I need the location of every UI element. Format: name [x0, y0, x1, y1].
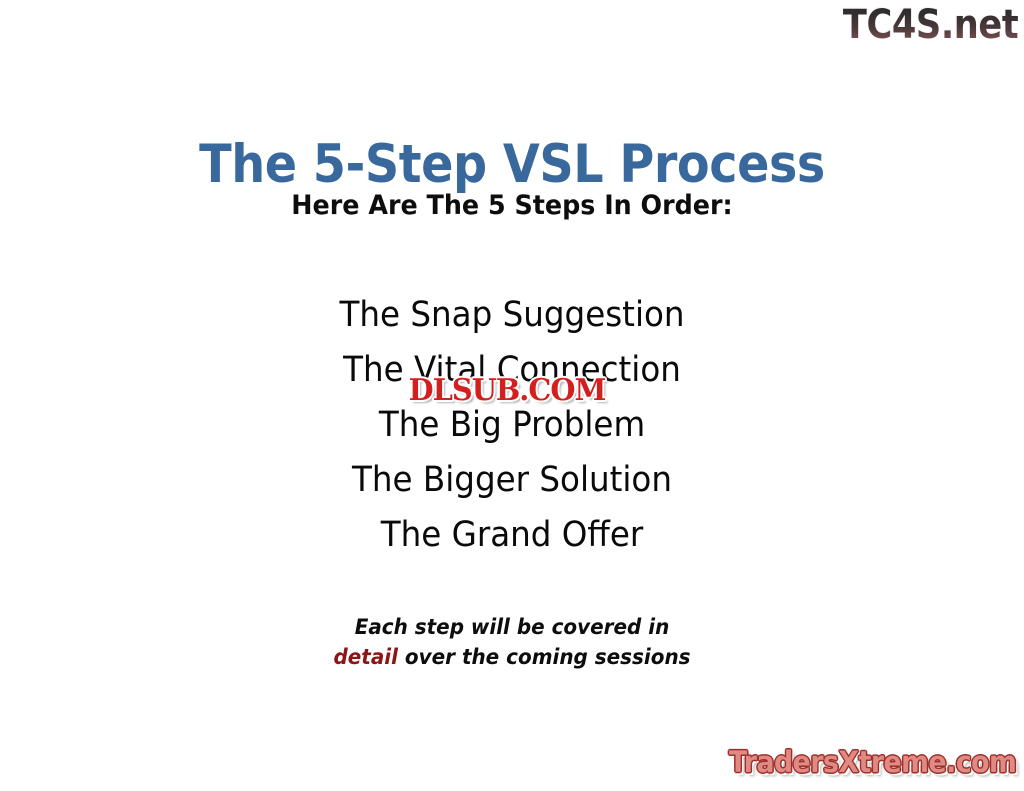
tc4s-brand-logo: TC4S.net: [843, 2, 1018, 48]
closing-note-line-2-text: over the coming sessions: [405, 645, 691, 669]
steps-list: The Snap Suggestion The Vital Connection…: [0, 288, 1024, 563]
page-title: The 5-Step VSL Process: [51, 136, 973, 194]
list-item: The Snap Suggestion: [36, 288, 988, 343]
closing-note-line-1: Each step will be covered in: [26, 612, 999, 642]
tradersxtreme-site-logo: TradersXtreme.com: [729, 745, 1016, 779]
slide-subtitle: Here Are The 5 Steps In Order:: [31, 190, 994, 222]
list-item: The Bigger Solution: [36, 453, 988, 508]
closing-note-accent-word: detail: [333, 645, 397, 669]
list-item: The Grand Offer: [36, 508, 988, 563]
closing-note: Each step will be covered in detail over…: [26, 612, 999, 672]
closing-note-line-2: detail over the coming sessions: [26, 642, 999, 672]
slide-canvas: TC4S.net The 5-Step VSL Process Here Are…: [0, 0, 1024, 791]
dlsub-watermark: DLSUB.COM: [368, 374, 646, 408]
